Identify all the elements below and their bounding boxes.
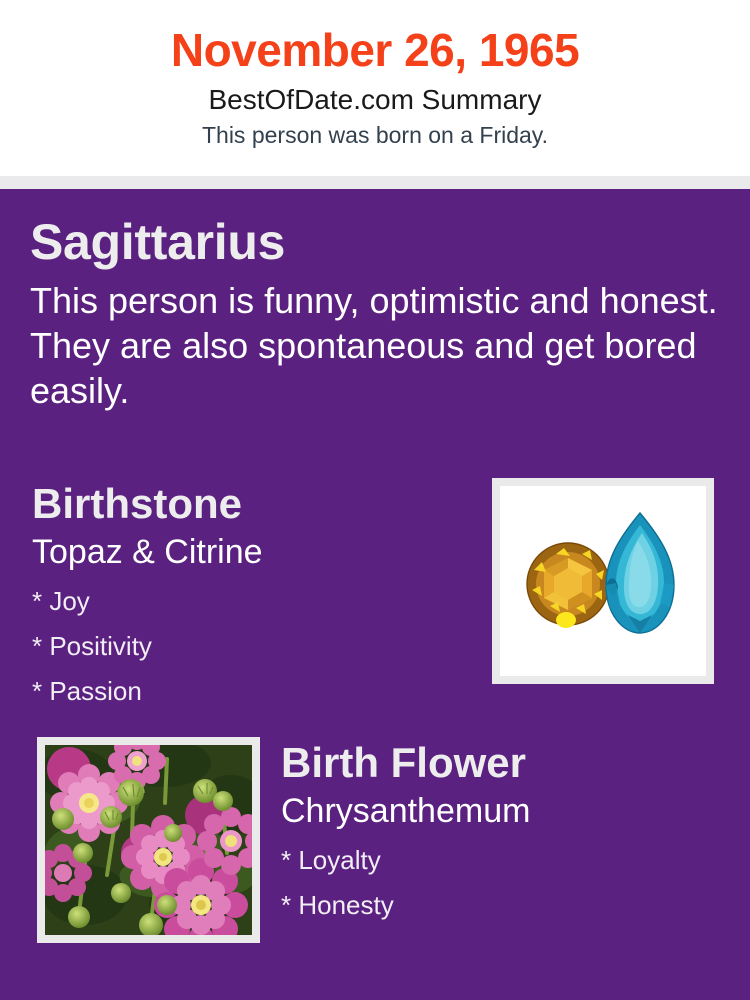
birthstone-trait-list: * Joy * Positivity * Passion <box>32 573 472 714</box>
birth-flower-title: Birth Flower <box>281 737 731 789</box>
chrysanthemums-illustration <box>45 745 252 935</box>
list-item: * Positivity <box>32 624 472 669</box>
birthstone-section: Birthstone Topaz & Citrine * Joy * Posit… <box>32 478 472 714</box>
birth-flower-section: Birth Flower Chrysanthemum * Loyalty * H… <box>281 737 731 928</box>
birth-flower-trait-list: * Loyalty * Honesty <box>281 832 731 928</box>
site-name-subtitle: BestOfDate.com Summary <box>0 78 750 117</box>
birthstone-photo-frame <box>492 478 714 684</box>
birth-day-note: This person was born on a Friday. <box>0 117 750 149</box>
list-item: * Loyalty <box>281 838 731 883</box>
birthstone-value: Topaz & Citrine <box>32 530 472 573</box>
zodiac-description: This person is funny, optimistic and hon… <box>30 272 720 413</box>
birth-flower-photo-frame <box>37 737 260 943</box>
birth-flower-value: Chrysanthemum <box>281 789 731 832</box>
page-title-date: November 26, 1965 <box>0 0 750 78</box>
birthstone-photo-topaz-citrine <box>500 486 706 676</box>
zodiac-sign-name: Sagittarius <box>30 212 730 272</box>
list-item: * Joy <box>32 579 472 624</box>
date-summary-card: November 26, 1965 BestOfDate.com Summary… <box>0 0 750 1000</box>
header-divider <box>0 176 750 189</box>
birth-flower-photo-chrysanthemum <box>45 745 252 935</box>
header: November 26, 1965 BestOfDate.com Summary… <box>0 0 750 176</box>
gems-illustration <box>500 486 706 676</box>
list-item: * Passion <box>32 669 472 714</box>
birthstone-title: Birthstone <box>32 478 472 530</box>
list-item: * Honesty <box>281 883 731 928</box>
zodiac-section: Sagittarius This person is funny, optimi… <box>30 212 730 413</box>
